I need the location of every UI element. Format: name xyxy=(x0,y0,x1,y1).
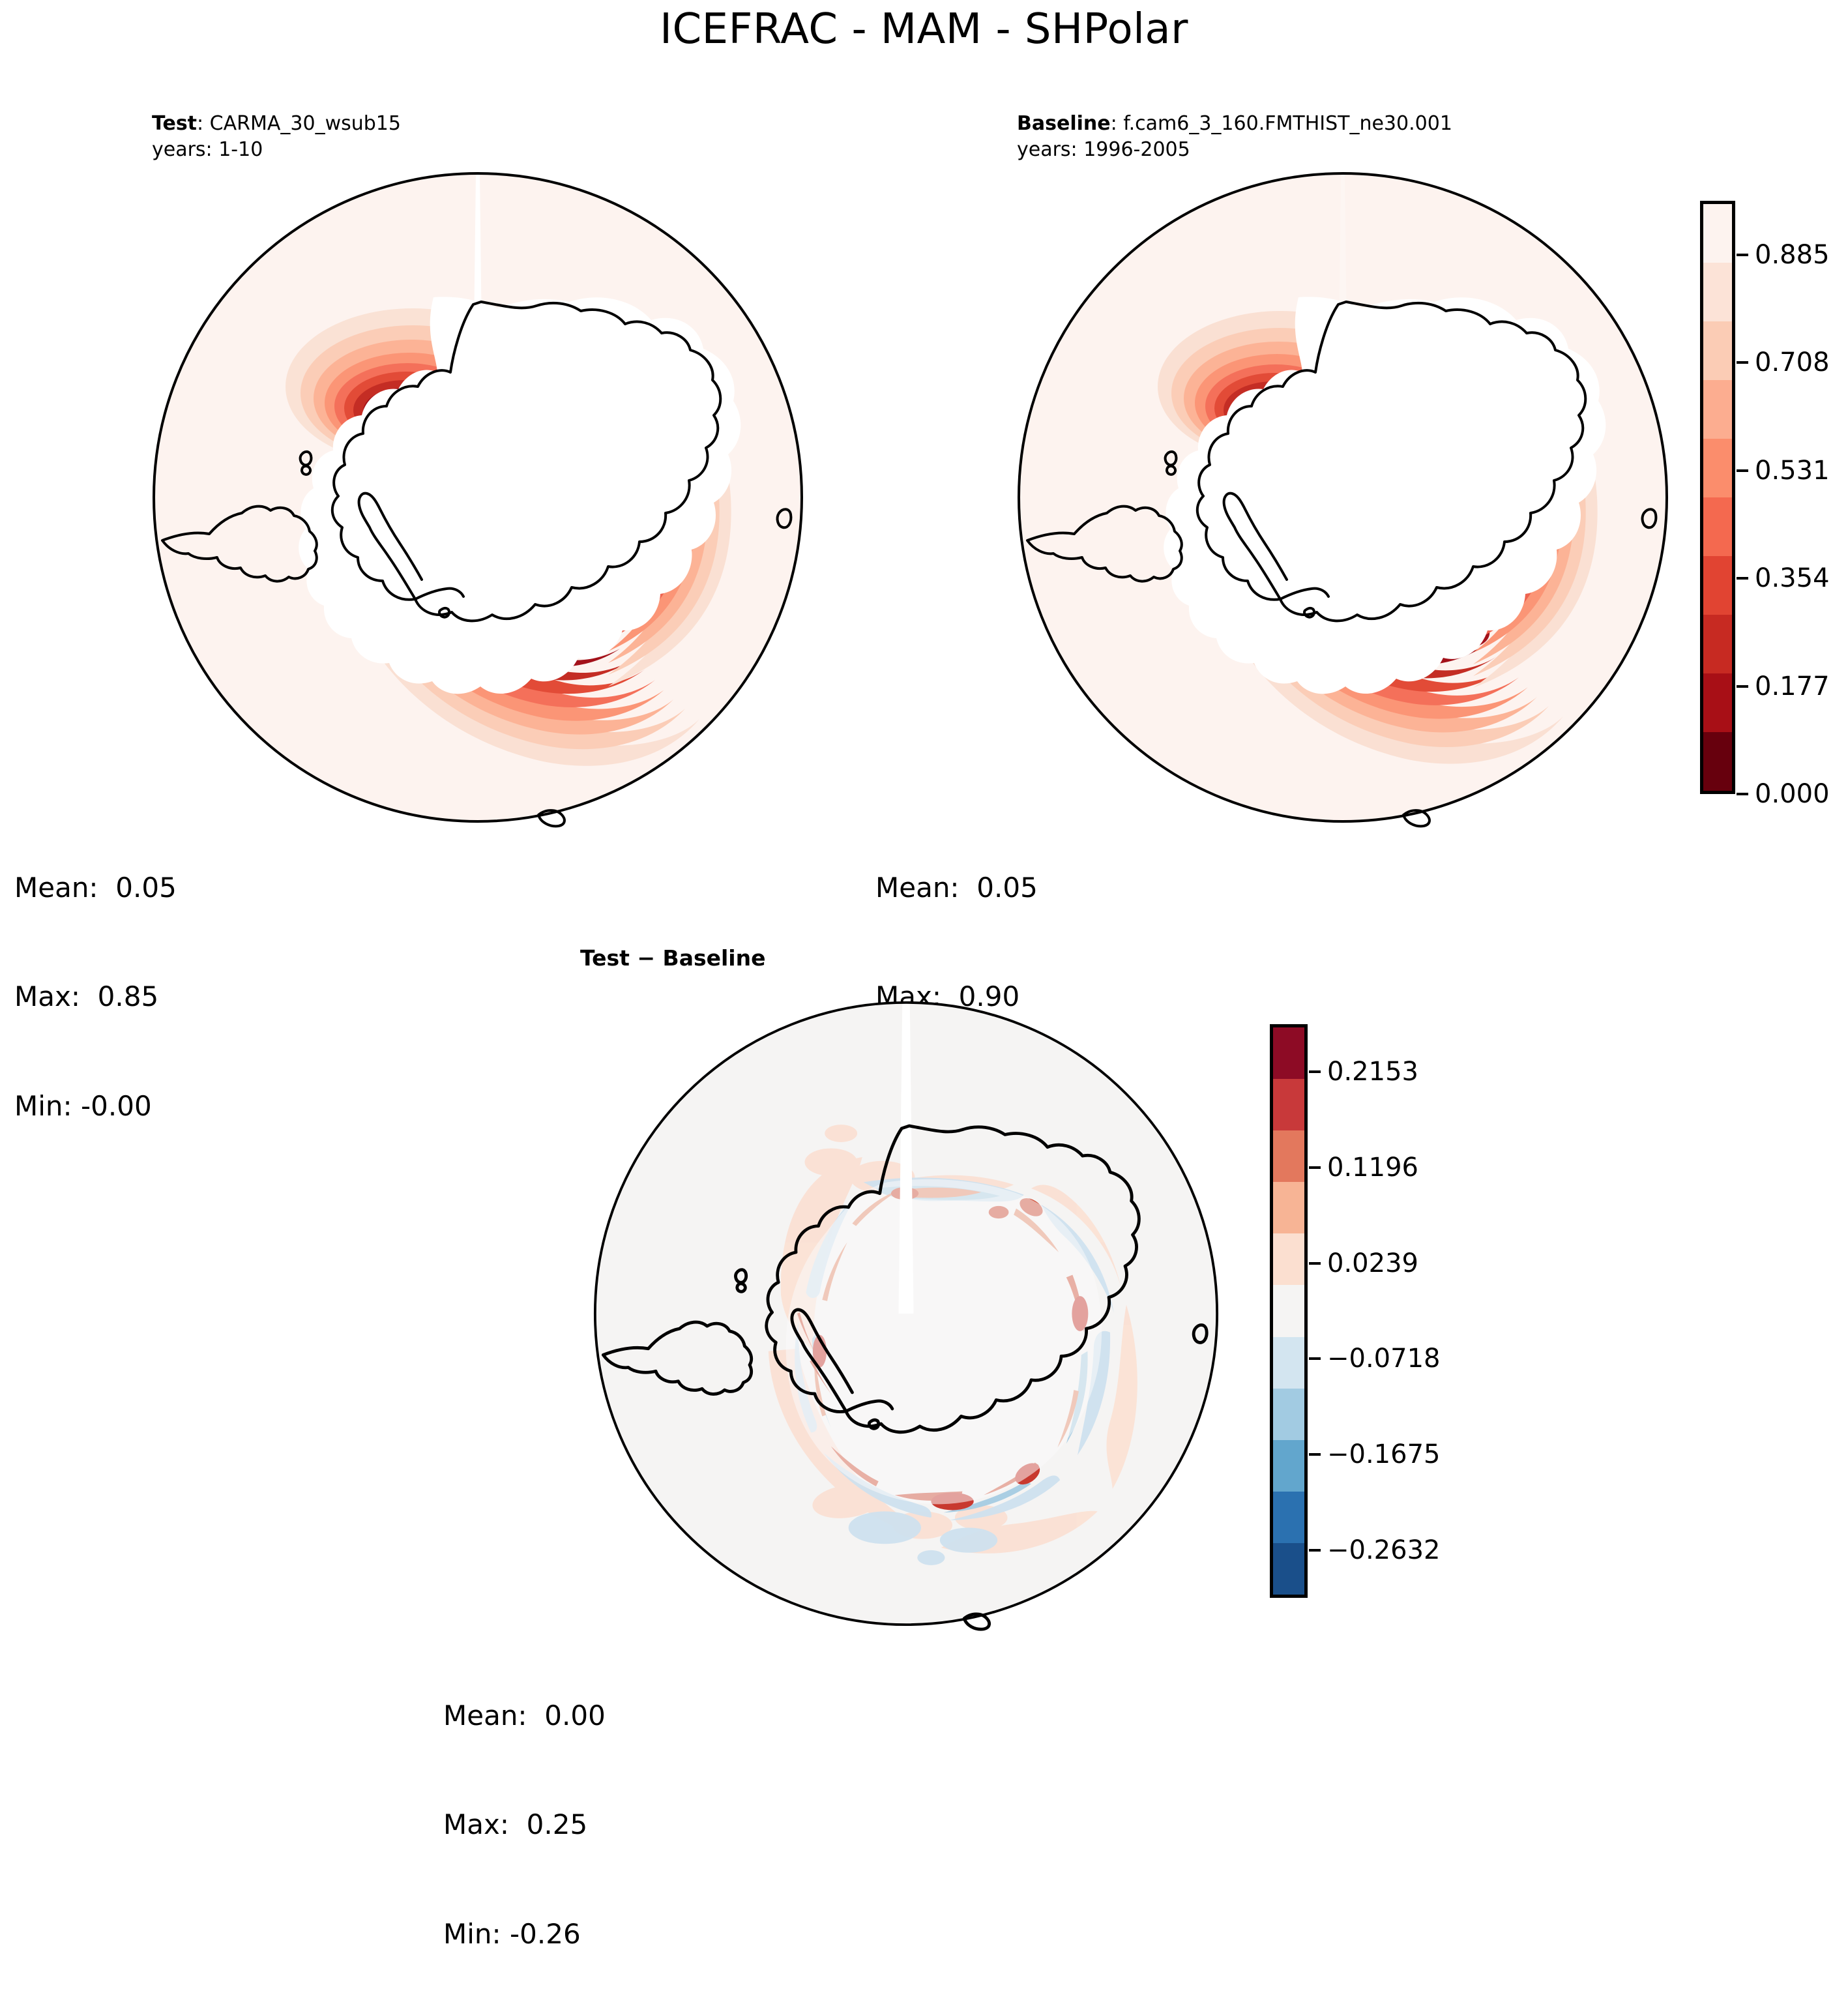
test-stat-max: Max: 0.85 xyxy=(14,979,177,1015)
colorbar-tick xyxy=(1737,254,1748,256)
baseline-map-svg xyxy=(1017,171,1669,823)
diff-map-svg xyxy=(593,1001,1219,1627)
colorbar-tick-label: 0.708 xyxy=(1755,347,1830,377)
diff-stat-max: Max: 0.25 xyxy=(443,1806,606,1843)
colorbar-tick-label: 0.354 xyxy=(1755,563,1830,593)
baseline-map-panel[interactable] xyxy=(1017,171,1669,823)
colorbar-tick-label: 0.2153 xyxy=(1327,1057,1418,1087)
colorbar-tick-label: 0.0239 xyxy=(1327,1248,1418,1278)
colorbar-tick-label: 0.531 xyxy=(1755,456,1830,486)
colorbar-tick-label: −0.1675 xyxy=(1327,1439,1440,1469)
test-label-bold: Test xyxy=(152,112,197,135)
test-map-svg xyxy=(152,171,804,823)
test-stat-min: Min: -0.00 xyxy=(14,1088,177,1125)
baseline-stat-mean: Mean: 0.05 xyxy=(875,870,1038,906)
absolute-colorbar-ticks: 0.0000.1770.3540.5310.7080.885 xyxy=(1700,201,1848,794)
colorbar-tick-label: 0.177 xyxy=(1755,671,1830,701)
colorbar-tick-label: −0.0718 xyxy=(1327,1344,1440,1374)
colorbar-tick xyxy=(1737,577,1748,580)
test-stats: Mean: 0.05 Max: 0.85 Min: -0.00 xyxy=(14,797,177,1161)
colorbar-tick xyxy=(1737,469,1748,472)
colorbar-tick xyxy=(1309,1549,1321,1552)
colorbar-tick xyxy=(1309,1070,1321,1073)
test-stat-mean: Mean: 0.05 xyxy=(14,870,177,906)
test-years: years: 1-10 xyxy=(152,138,263,161)
baseline-years: years: 1996-2005 xyxy=(1017,138,1190,161)
diff-panel-title: Test − Baseline xyxy=(580,945,766,971)
baseline-label-bold: Baseline xyxy=(1017,112,1111,135)
colorbar-tick xyxy=(1737,685,1748,688)
diff-stat-min: Min: -0.26 xyxy=(443,1916,606,1952)
test-panel-caption: Test: CARMA_30_wsub15 years: 1-10 xyxy=(152,111,401,162)
test-label-case: : CARMA_30_wsub15 xyxy=(197,112,401,135)
colorbar-tick xyxy=(1737,361,1748,364)
baseline-label-case: : f.cam6_3_160.FMTHIST_ne30.001 xyxy=(1111,112,1452,135)
colorbar-tick xyxy=(1737,793,1748,795)
diff-map-panel[interactable] xyxy=(593,1001,1219,1627)
diff-stats: Mean: 0.00 Max: 0.25 Min: -0.26 xyxy=(443,1625,606,1989)
colorbar-tick-label: 0.000 xyxy=(1755,779,1830,809)
baseline-panel-caption: Baseline: f.cam6_3_160.FMTHIST_ne30.001 … xyxy=(1017,111,1452,162)
colorbar-tick xyxy=(1309,1453,1321,1456)
colorbar-tick-label: 0.885 xyxy=(1755,240,1830,270)
diff-stat-mean: Mean: 0.00 xyxy=(443,1698,606,1734)
colorbar-tick-label: 0.1196 xyxy=(1327,1153,1418,1183)
colorbar-tick xyxy=(1309,1262,1321,1265)
colorbar-tick xyxy=(1309,1357,1321,1360)
page-title: ICEFRAC - MAM - SHPolar xyxy=(0,5,1848,53)
colorbar-tick xyxy=(1309,1166,1321,1169)
colorbar-tick-label: −0.2632 xyxy=(1327,1535,1440,1565)
difference-colorbar-ticks: 0.21530.11960.0239−0.0718−0.1675−0.2632 xyxy=(1270,1024,1465,1598)
test-map-panel[interactable] xyxy=(152,171,804,823)
